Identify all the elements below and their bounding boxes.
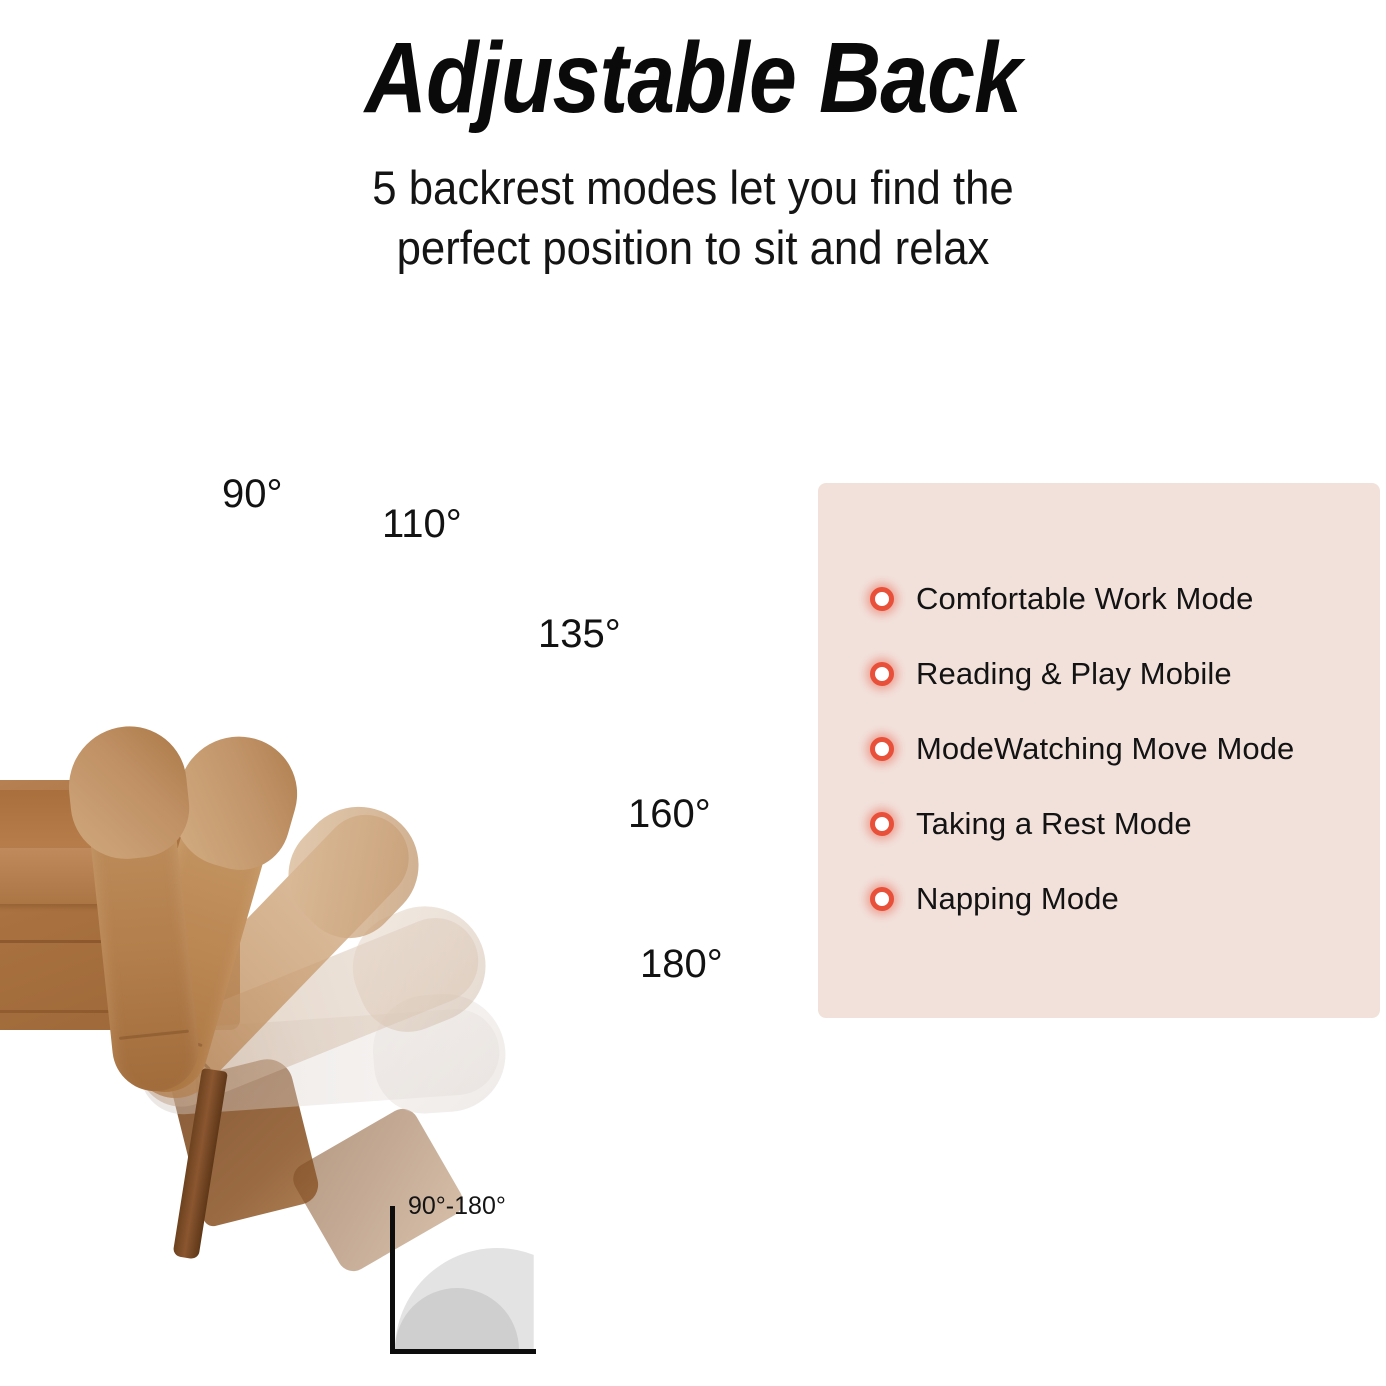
page-subtitle: 5 backrest modes let you find the perfec…: [49, 158, 1338, 278]
angle-range-diagram: 90°-180°: [382, 1192, 562, 1370]
angle-label-160: 160°: [628, 792, 711, 837]
page-title: Adjustable Back: [97, 24, 1289, 132]
backrest-position-90: [79, 728, 202, 1095]
ring-bullet-icon: [870, 662, 894, 686]
angle-label-110: 110°: [382, 502, 462, 547]
ring-bullet-icon: [870, 587, 894, 611]
feature-panel: Comfortable Work Mode Reading & Play Mob…: [818, 483, 1380, 1018]
cushion-seam: [119, 1030, 189, 1040]
ring-bullet-icon: [870, 887, 894, 911]
subtitle-line-2: perfect position to sit and relax: [49, 218, 1338, 278]
list-item: ModeWatching Move Mode: [870, 711, 1370, 786]
list-item: Taking a Rest Mode: [870, 786, 1370, 861]
list-item: Comfortable Work Mode: [870, 561, 1370, 636]
ring-bullet-icon: [870, 737, 894, 761]
feature-label: Taking a Rest Mode: [916, 806, 1192, 842]
infographic-page: Adjustable Back 5 backrest modes let you…: [0, 0, 1386, 1386]
subtitle-line-1: 5 backrest modes let you find the: [49, 158, 1338, 218]
list-item: Reading & Play Mobile: [870, 636, 1370, 711]
angle-label-90: 90°: [222, 472, 283, 517]
feature-label: Reading & Play Mobile: [916, 656, 1232, 692]
angle-label-180: 180°: [640, 942, 723, 987]
angle-range-label: 90°-180°: [408, 1192, 506, 1221]
ring-bullet-icon: [870, 812, 894, 836]
backrest-position-fan: [140, 1030, 141, 1031]
feature-label: Comfortable Work Mode: [916, 581, 1253, 617]
angle-axis-horizontal: [390, 1349, 536, 1354]
feature-label: Napping Mode: [916, 881, 1119, 917]
angle-arc-mask: [382, 1354, 612, 1386]
chair-product-image: [0, 470, 730, 1270]
feature-list: Comfortable Work Mode Reading & Play Mob…: [870, 561, 1370, 936]
feature-label: ModeWatching Move Mode: [916, 731, 1294, 767]
angle-axis-vertical: [390, 1206, 395, 1354]
angle-label-135: 135°: [538, 612, 621, 657]
list-item: Napping Mode: [870, 861, 1370, 936]
